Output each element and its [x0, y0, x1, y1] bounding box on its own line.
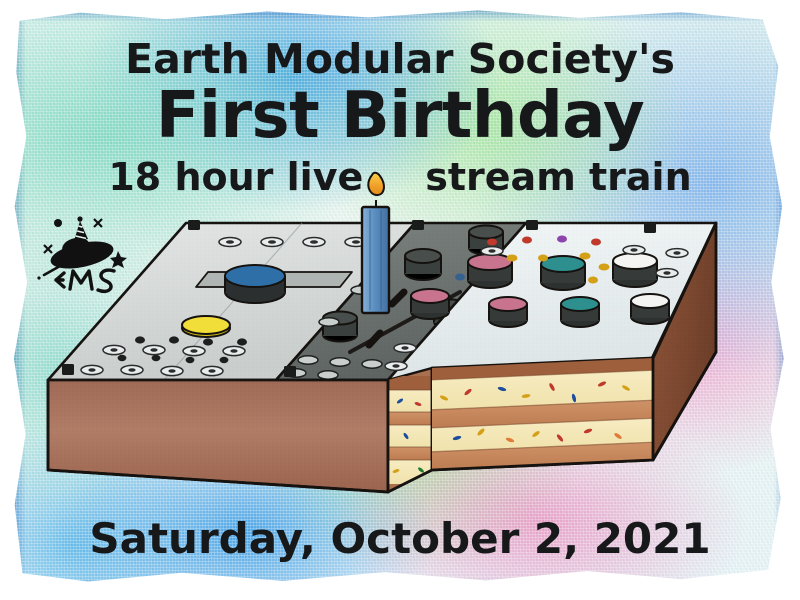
subheadline-line: 18 hour livestream train: [0, 158, 800, 196]
headline-line-2: First Birthday: [0, 84, 800, 148]
cake-slice-cross-section: [384, 354, 658, 498]
subheadline-right: stream train: [425, 155, 691, 199]
synth-cake-illustration: [40, 170, 760, 520]
poster-canvas: EMS: [0, 0, 800, 600]
knob-yellow: [182, 316, 230, 337]
knobs-right-row1: [468, 253, 657, 290]
subheadline-left: 18 hour live: [108, 155, 363, 199]
knob-blue-large: [225, 265, 285, 303]
event-date: Saturday, October 2, 2021: [0, 518, 800, 560]
headline-line-1: Earth Modular Society's: [0, 39, 800, 80]
